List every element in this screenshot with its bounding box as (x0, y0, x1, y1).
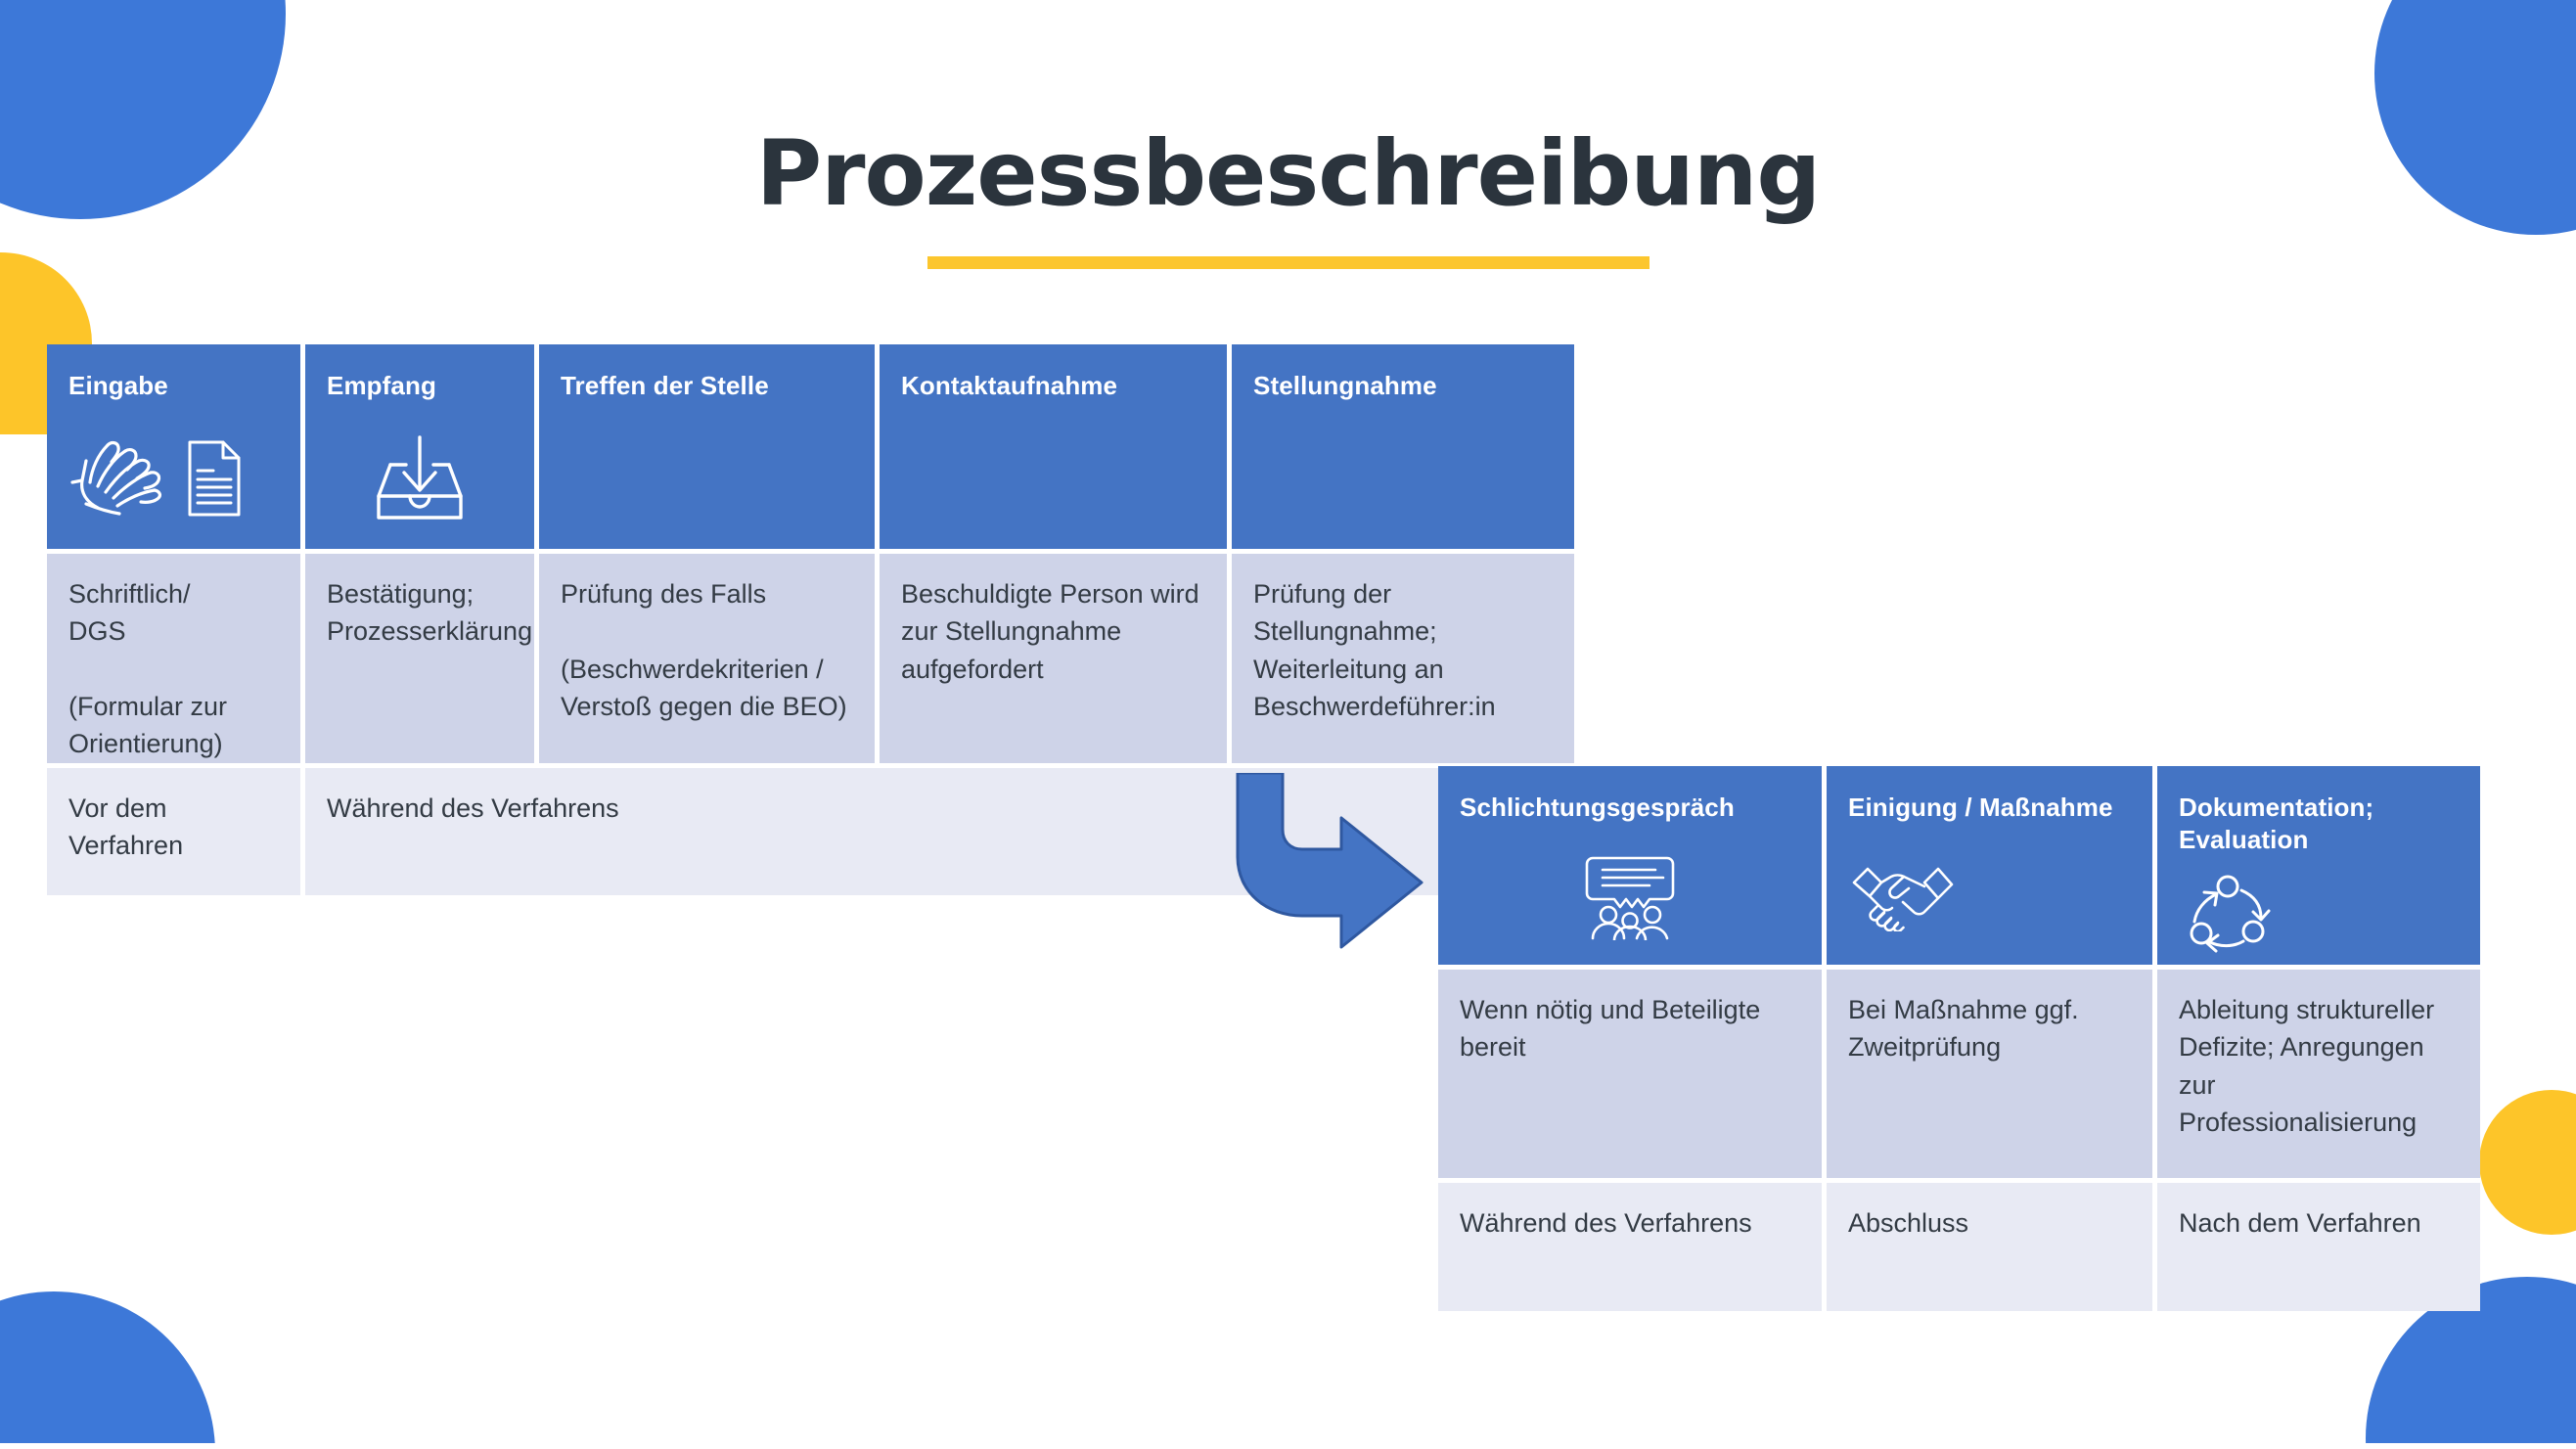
header-icon-group (1848, 824, 2131, 965)
table-cell: Prüfung des Falls (Beschwerdekriterien /… (539, 554, 875, 763)
curved-arrow-down-right-icon (1220, 773, 1435, 949)
table-cell: Wenn nötig und Beteiligte bereit (1438, 970, 1822, 1178)
table-cell: Bestätigung; Prozesserklärung (305, 554, 534, 763)
header-label: Einigung / Maßnahme (1848, 792, 2131, 824)
header-icon-group (561, 402, 853, 549)
table-cell-phase-label: Während des Verfahrens (1438, 1183, 1822, 1311)
table-header-row: Schlichtungsgespräch (1438, 766, 2480, 965)
header-icon-group (1460, 824, 1800, 965)
header-label: Schlichtungsgespräch (1460, 792, 1800, 824)
table-cell: Prüfung der Stellungnahme; Weiterleitung… (1232, 554, 1574, 763)
header-cell-einigung-massnahme[interactable]: Einigung / Maßnahme (1827, 766, 2152, 965)
header-cell-schlichtungsgespraech[interactable]: Schlichtungsgespräch (1438, 766, 1822, 965)
page-title: Prozessbeschreibung (0, 129, 2576, 219)
header-label: Empfang (327, 370, 513, 402)
table-cell-phase-label: Vor dem Verfahren (47, 768, 300, 895)
table-body-row: Wenn nötig und Beteiligte bereit Bei Maß… (1438, 970, 2480, 1178)
header-cell-stellungnahme[interactable]: Stellungnahme (1232, 344, 1574, 549)
process-table-phase-two: Schlichtungsgespräch (1438, 766, 2480, 1311)
table-body-row: Schriftlich/ DGS (Formular zur Orientier… (47, 554, 1574, 763)
header-icon-group (1253, 402, 1553, 549)
title-block: Prozessbeschreibung (0, 129, 2576, 269)
table-header-row: Eingabe (47, 344, 1574, 549)
table-footer-row: Während des Verfahrens Abschluss Nach de… (1438, 1183, 2480, 1311)
table-cell: Bei Maßnahme ggf. Zweitprüfung (1827, 970, 2152, 1178)
slide-bottom-strip (0, 1443, 2576, 1449)
cycle-arrows-icon (2179, 875, 2281, 953)
table-cell: Beschuldigte Person wird zur Stellungnah… (880, 554, 1227, 763)
header-cell-kontaktaufnahme[interactable]: Kontaktaufnahme (880, 344, 1227, 549)
speech-bubble-group-icon (1575, 854, 1685, 940)
header-label: Treffen der Stelle (561, 370, 853, 402)
title-underline-rule (927, 256, 1650, 269)
header-label: Eingabe (68, 370, 279, 402)
table-cell: Schriftlich/ DGS (Formular zur Orientier… (47, 554, 300, 763)
header-label: Stellungnahme (1253, 370, 1553, 402)
header-label: Kontaktaufnahme (901, 370, 1205, 402)
document-icon (186, 439, 243, 518)
table-cell: Ableitung struktureller Defizite; Anregu… (2157, 970, 2480, 1178)
table-cell-phase-label: Nach dem Verfahren (2157, 1183, 2480, 1311)
header-cell-treffen-der-stelle[interactable]: Treffen der Stelle (539, 344, 875, 549)
handshake-icon (1848, 863, 1958, 931)
table-cell-phase-label: Abschluss (1827, 1183, 2152, 1311)
sign-language-hands-icon (68, 431, 170, 525)
decorative-circle-bottom-left (0, 1291, 215, 1449)
header-icon-group (327, 402, 513, 549)
header-cell-dokumentation-evaluation[interactable]: Dokumentation; Evaluation (2157, 766, 2480, 965)
slide-canvas: Prozessbeschreibung Eingabe (0, 0, 2576, 1449)
decorative-circle-yellow-bottom-right (2479, 1090, 2576, 1235)
header-icon-group (68, 402, 279, 549)
inbox-tray-arrow-icon (369, 431, 471, 525)
header-icon-group (2179, 857, 2459, 965)
header-icon-group (901, 402, 1205, 549)
header-label: Dokumentation; Evaluation (2179, 792, 2459, 857)
header-cell-empfang[interactable]: Empfang (305, 344, 534, 549)
header-cell-eingabe[interactable]: Eingabe (47, 344, 300, 549)
